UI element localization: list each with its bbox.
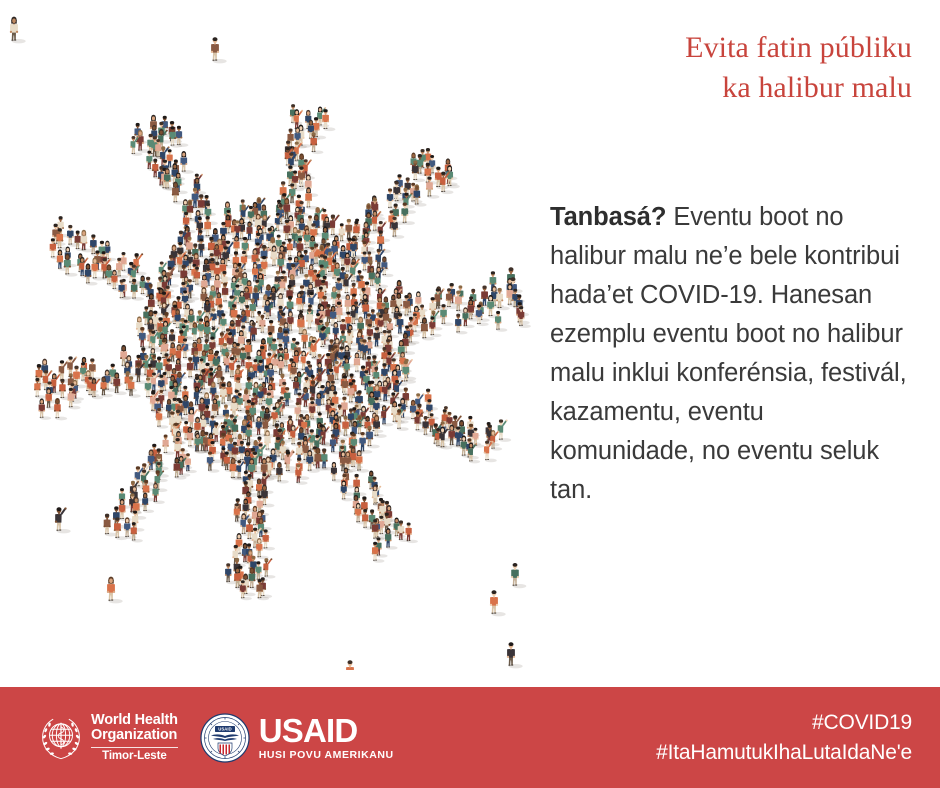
who-name-line-1: World Health xyxy=(91,713,178,729)
hashtag-covid19: #COVID19 xyxy=(812,709,912,737)
svg-text:USAID: USAID xyxy=(218,726,232,731)
usaid-seal-icon: USAID xyxy=(200,713,250,763)
usaid-logo: USAID USAID xyxy=(200,713,394,763)
who-name-line-2: Organization xyxy=(91,728,177,744)
body-paragraph: Tanbasá? Eventu boot no halibur malu ne’… xyxy=(550,198,910,510)
who-wordmark: World Health Organization Timor-Leste xyxy=(91,713,178,763)
hashtag-campaign: #ItaHamutukIhaLutaIdaNe'e xyxy=(656,739,912,767)
page-title: Evita fatin públiku ka halibur malu xyxy=(572,28,912,107)
headline-line-1: Evita fatin públiku xyxy=(572,28,912,68)
body-text: Eventu boot no halibur malu ne’e bele ko… xyxy=(550,203,907,504)
crowd-virus-canvas xyxy=(0,0,540,670)
hashtag-group: #COVID19 #ItaHamutukIhaLutaIdaNe'e xyxy=(656,687,912,788)
who-country-label: Timor-Leste xyxy=(102,751,167,763)
body-lead: Tanbasá? xyxy=(550,203,666,231)
logo-group: World Health Organization Timor-Leste xyxy=(38,687,394,788)
who-divider xyxy=(91,747,178,748)
usaid-wordmark: USAID HUSI POVU AMERIKANU xyxy=(259,714,394,761)
who-emblem-icon xyxy=(38,715,84,761)
crowd-illustration xyxy=(0,0,540,670)
usaid-name: USAID xyxy=(259,714,358,747)
who-logo: World Health Organization Timor-Leste xyxy=(38,713,178,763)
headline-line-2: ka halibur malu xyxy=(572,68,912,108)
footer-bar: World Health Organization Timor-Leste xyxy=(0,687,940,788)
text-column: Evita fatin públiku ka halibur malu Tanb… xyxy=(540,0,940,687)
poster-root: Evita fatin públiku ka halibur malu Tanb… xyxy=(0,0,940,788)
usaid-tagline: HUSI POVU AMERIKANU xyxy=(259,749,394,761)
